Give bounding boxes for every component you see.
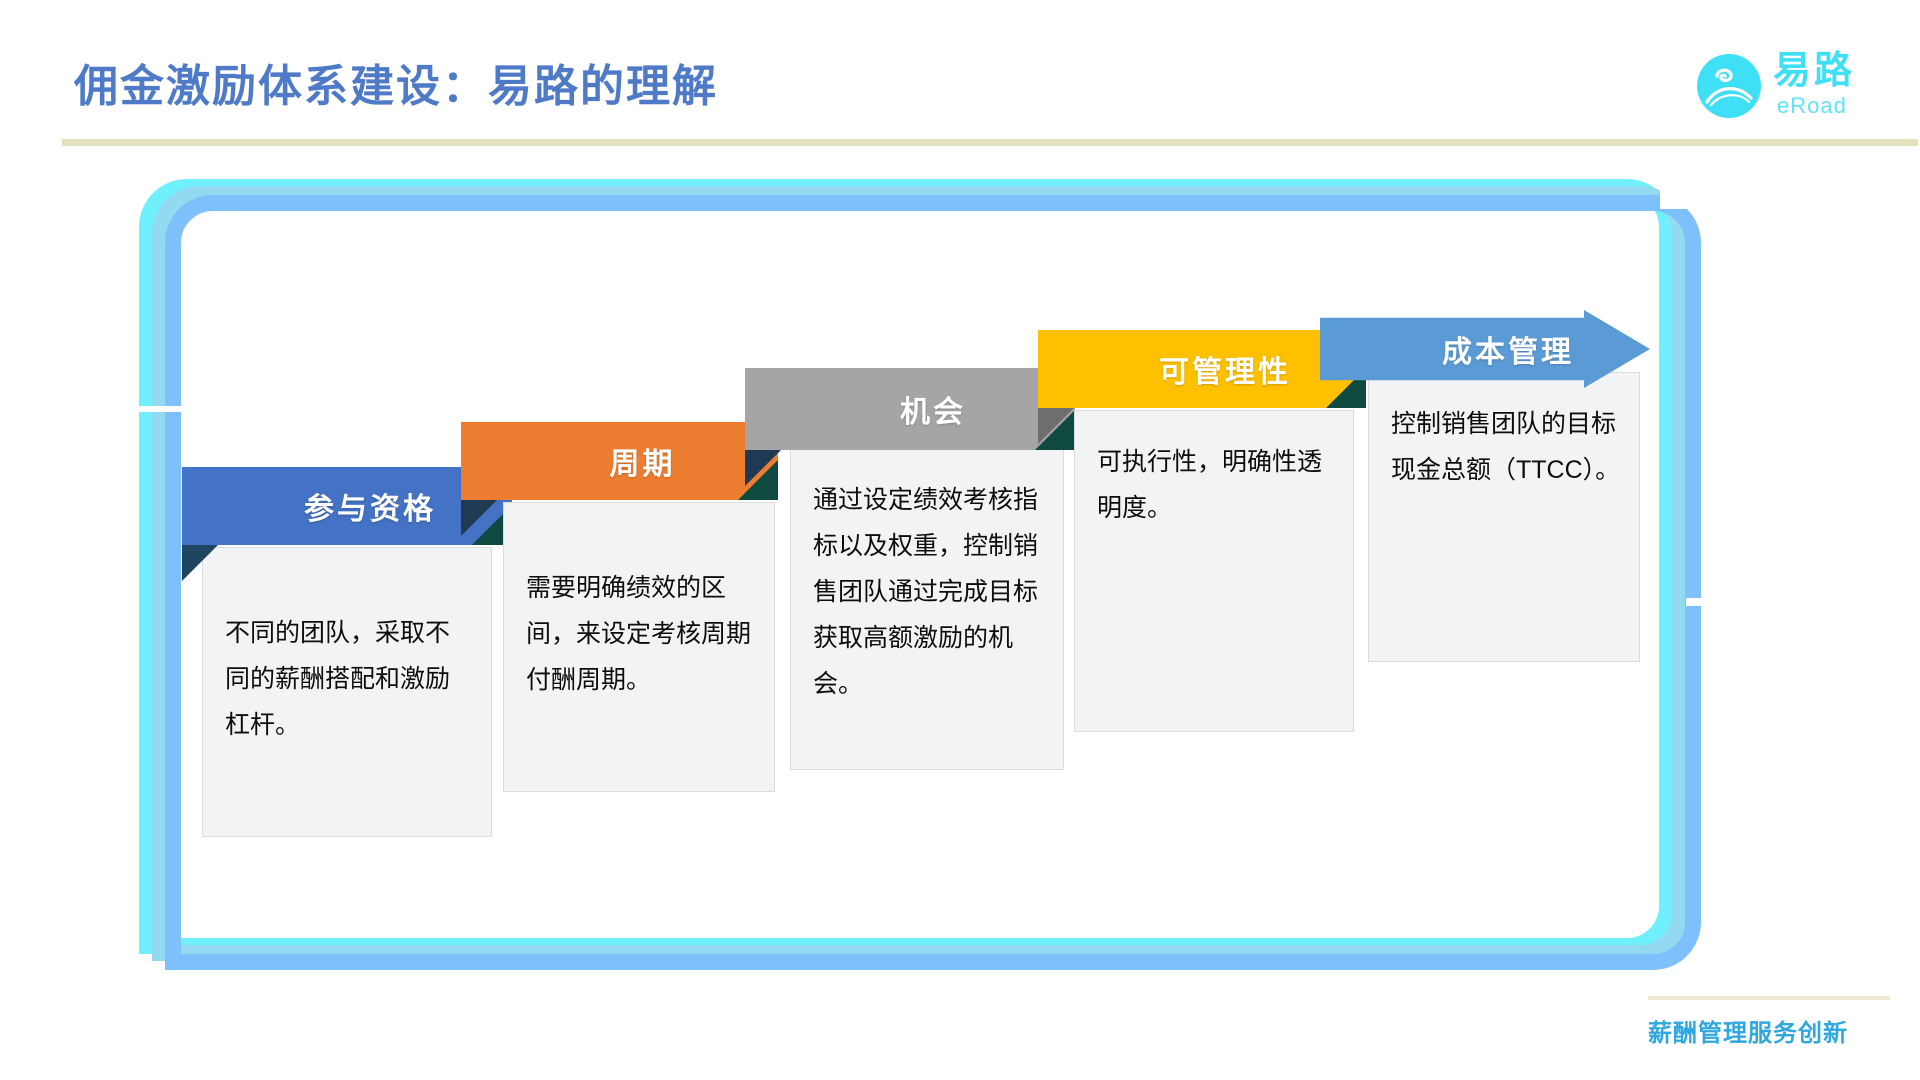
step-banner-label-manageability: 可管理性 [1113, 347, 1291, 391]
step-card-body-opportunity: 通过设定绩效考核指标以及权重，控制销售团队通过完成目标获取高额激励的机会。 [813, 477, 1045, 707]
ribbon-fold-left-opportunity [745, 450, 781, 486]
ribbon-fold-left-cycle [461, 500, 497, 536]
step-card-cost-management: 控制销售团队的目标现金总额（TTCC）。 [1368, 372, 1640, 662]
step-card-eligibility: 不同的团队，采取不同的薪酬搭配和激励杠杆。 [202, 547, 492, 837]
process-step-sequence: 不同的团队，采取不同的薪酬搭配和激励杠杆。参与资格需要明确绩效的区间，来设定考核… [0, 0, 1920, 1080]
step-banner-label-cost-management: 成本管理 [1396, 327, 1574, 371]
step-card-body-cycle: 需要明确绩效的区间，来设定考核周期付酬周期。 [526, 565, 756, 703]
step-banner-label-opportunity: 机会 [854, 387, 966, 431]
step-banner-cycle[interactable]: 周期 [461, 422, 778, 500]
step-card-cycle: 需要明确绩效的区间，来设定考核周期付酬周期。 [503, 502, 775, 792]
step-card-body-eligibility: 不同的团队，采取不同的薪酬搭配和激励杠杆。 [225, 610, 473, 748]
step-banner-opportunity[interactable]: 机会 [745, 368, 1075, 450]
step-banner-manageability[interactable]: 可管理性 [1038, 330, 1366, 408]
step-card-body-cost-management: 控制销售团队的目标现金总额（TTCC）。 [1391, 401, 1621, 493]
step-card-manageability: 可执行性，明确性透明度。 [1074, 410, 1354, 732]
ribbon-fold-left-manageability [1038, 408, 1074, 444]
step-banner-cost-management[interactable]: 成本管理 [1320, 310, 1650, 388]
step-card-body-manageability: 可执行性，明确性透明度。 [1097, 439, 1335, 531]
step-banner-label-cycle: 周期 [564, 439, 676, 483]
step-banner-label-eligibility: 参与资格 [258, 484, 436, 528]
footer-tagline: 薪酬管理服务创新 [1648, 1013, 1848, 1048]
footer-divider [1648, 996, 1890, 1000]
ribbon-fold-left-eligibility [182, 545, 218, 581]
step-card-opportunity: 通过设定绩效考核指标以及权重，控制销售团队通过完成目标获取高额激励的机会。 [790, 448, 1064, 770]
